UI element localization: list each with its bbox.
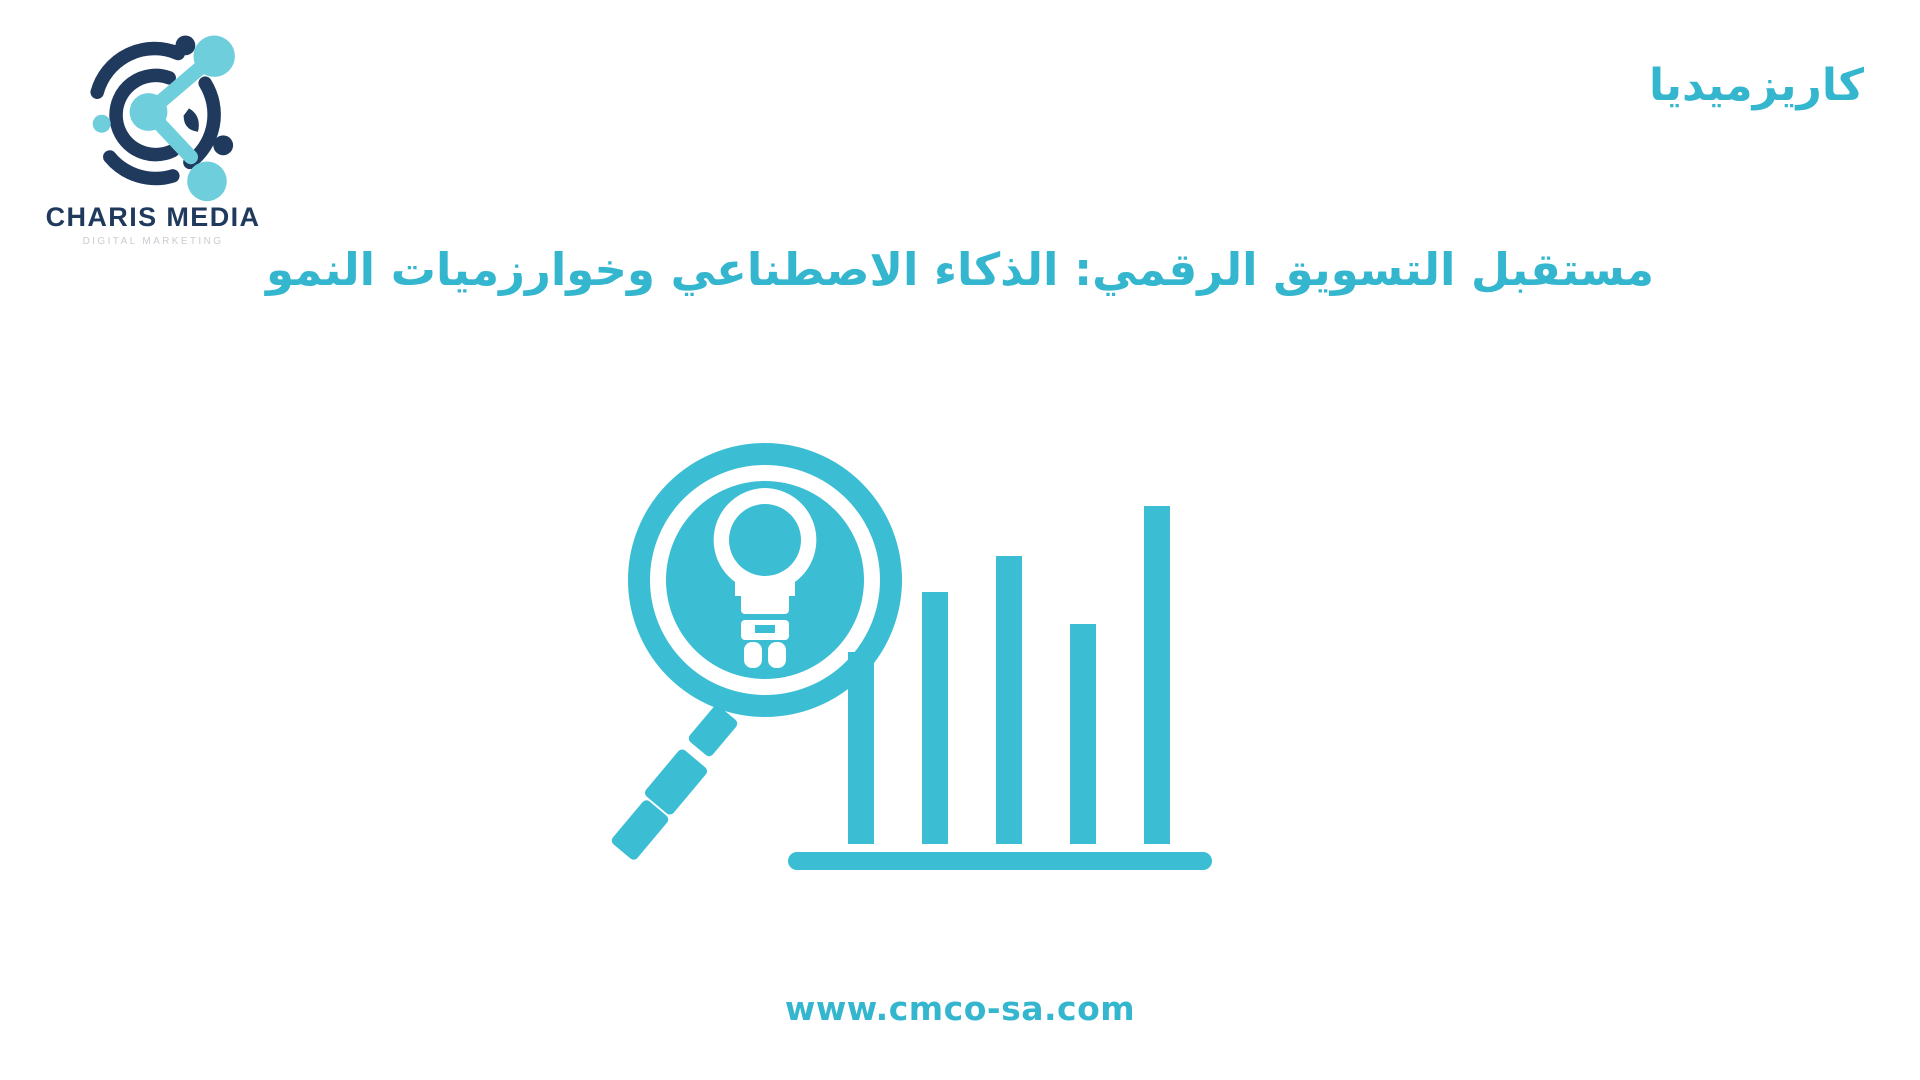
magnifier-lightbulb-bar-chart-icon xyxy=(610,440,1310,870)
poster-canvas: CHARIS MEDIA DIGITAL MARKETING كاريزميدي… xyxy=(0,0,1920,1080)
charis-network-circle-logo-icon xyxy=(63,22,243,202)
brand-wordmark: CHARIS MEDIA xyxy=(38,204,268,231)
website-url[interactable]: www.cmco-sa.com xyxy=(0,989,1920,1028)
page-title: مستقبل التسويق الرقمي: الذكاء الاصطناعي … xyxy=(0,240,1920,301)
brand-logo: CHARIS MEDIA DIGITAL MARKETING xyxy=(38,22,268,262)
brand-arabic-name: كاريزميديا xyxy=(1649,62,1864,110)
